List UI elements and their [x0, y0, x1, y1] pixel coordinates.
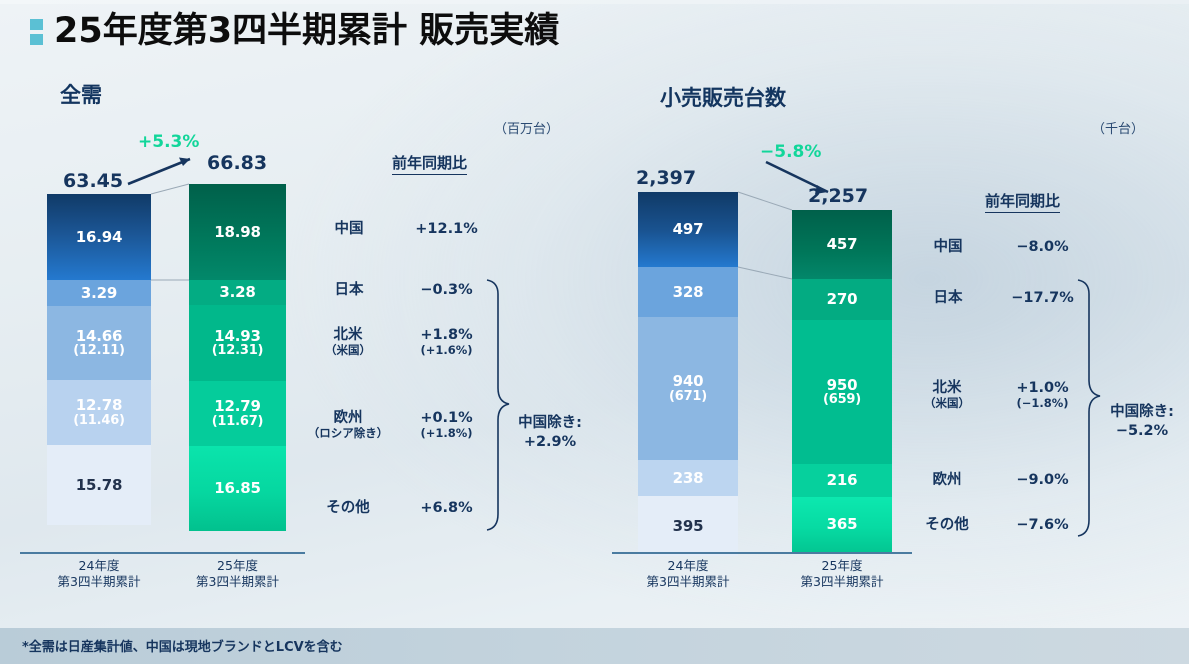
- right-curr-segment-0[interactable]: 457: [792, 210, 892, 279]
- right-axis-tick-1-line1: 25年度: [784, 558, 900, 574]
- bar-24fy-retail-sales[interactable]: 497328940(671)238395: [638, 192, 738, 556]
- left-row-name-1-main: 日本: [335, 282, 364, 298]
- right-prev-segment-1-value: 328: [673, 284, 704, 300]
- left-prev-segment-4-value: 15.78: [76, 477, 122, 493]
- right-yoy-header: 前年同期比: [985, 190, 1060, 213]
- left-row-name-3-sub: （ロシア除き）: [286, 427, 410, 441]
- left-axis-tick-1-line1: 25年度: [180, 558, 295, 574]
- left-curr-segment-1-value: 3.28: [219, 284, 255, 300]
- left-row-yoy-3: +0.1% (+1.8%): [394, 410, 499, 441]
- left-row-name-0: 中国: [304, 221, 394, 238]
- left-row-yoy-0: +12.1%: [394, 221, 499, 238]
- right-row-name-0: 中国: [903, 239, 993, 256]
- left-curr-segment-2[interactable]: 14.93(12.31): [189, 305, 286, 381]
- right-axis-tick-1-line2: 第3四半期累計: [784, 574, 900, 590]
- footnote: *全需は日産集計値、中国は現地ブランドとLCVを含む: [22, 636, 343, 655]
- right-excl-note-line2: −5.2%: [1087, 422, 1189, 441]
- right-curr-segment-4-value: 365: [827, 516, 858, 532]
- left-prev-total: 63.45: [63, 170, 123, 192]
- left-axis-tick-1-line2: 第3四半期累計: [180, 574, 295, 590]
- left-axis-tick-0-line1: 24年度: [47, 558, 151, 574]
- right-row-name-3: 欧州: [899, 472, 995, 489]
- right-axis-tick-1: 25年度 第3四半期累計: [784, 558, 900, 589]
- right-prev-segment-0-value: 497: [673, 221, 704, 237]
- left-row-yoy-1-main: −0.3%: [420, 282, 472, 298]
- left-row-yoy-2-main: +1.8%: [420, 327, 472, 343]
- right-prev-segment-2[interactable]: 940(671): [638, 317, 738, 460]
- right-curr-segment-3[interactable]: 216: [792, 464, 892, 497]
- left-prev-segment-2[interactable]: 14.66(12.11): [47, 306, 151, 380]
- right-row-yoy-1-main: −17.7%: [1011, 290, 1073, 306]
- right-prev-segment-4[interactable]: 395: [638, 496, 738, 556]
- chart-panel-retail-sales: 小売販売台数 （千台） 2,397 2,257 −5.8% 497328940(…: [600, 0, 1189, 664]
- left-prev-segment-3-value: 12.78: [76, 397, 122, 413]
- right-row-yoy-0-main: −8.0%: [1016, 239, 1068, 255]
- bar-25fy-total-demand[interactable]: 18.983.2814.93(12.31)12.79(11.67)16.85: [189, 184, 286, 531]
- left-axis-tick-0-line2: 第3四半期累計: [47, 574, 151, 590]
- right-prev-segment-2-subvalue: (671): [669, 390, 707, 404]
- right-growth-label: −5.8%: [760, 142, 821, 162]
- right-curr-segment-2[interactable]: 950(659): [792, 320, 892, 464]
- left-row-name-0-main: 中国: [335, 221, 364, 237]
- left-row-yoy-3-sub: (+1.8%): [394, 427, 499, 441]
- right-row-yoy-3: −9.0%: [990, 472, 1095, 489]
- right-curr-segment-4[interactable]: 365: [792, 497, 892, 552]
- right-row-yoy-4-main: −7.6%: [1016, 517, 1068, 533]
- left-curr-total: 66.83: [207, 152, 267, 174]
- left-excluding-china-note: 中国除き: +2.9%: [495, 414, 605, 452]
- right-row-name-4-main: その他: [925, 517, 969, 533]
- left-excl-note-line1: 中国除き:: [495, 414, 605, 433]
- right-row-yoy-2: +1.0% (−1.8%): [990, 380, 1095, 411]
- left-row-name-3: 欧州 （ロシア除き）: [286, 410, 410, 441]
- right-row-name-1-main: 日本: [934, 290, 963, 306]
- right-prev-segment-2-value: 940: [673, 373, 704, 389]
- right-curr-segment-1[interactable]: 270: [792, 279, 892, 320]
- left-growth-label: +5.3%: [138, 132, 199, 152]
- right-prev-total: 2,397: [636, 167, 696, 189]
- left-row-yoy-2: +1.8% (+1.6%): [394, 327, 499, 358]
- right-row-name-1: 日本: [903, 290, 993, 307]
- left-row-name-2-sub: （米国）: [300, 344, 396, 358]
- right-prev-segment-4-value: 395: [673, 518, 704, 534]
- left-row-name-3-main: 欧州: [334, 410, 363, 426]
- left-prev-segment-2-value: 14.66: [76, 328, 122, 344]
- left-curr-segment-3-value: 12.79: [214, 398, 260, 414]
- left-panel-title: 全需: [60, 79, 102, 109]
- right-prev-segment-3-value: 238: [673, 470, 704, 486]
- right-row-name-3-main: 欧州: [933, 472, 962, 488]
- right-row-yoy-2-sub: (−1.8%): [990, 397, 1095, 411]
- left-curr-segment-1[interactable]: 3.28: [189, 280, 286, 305]
- left-yoy-header: 前年同期比: [392, 152, 467, 175]
- left-prev-segment-0[interactable]: 16.94: [47, 194, 151, 280]
- left-row-name-2: 北米 （米国）: [300, 327, 396, 358]
- left-row-yoy-0-main: +12.1%: [415, 221, 477, 237]
- left-prev-segment-4[interactable]: 15.78: [47, 445, 151, 525]
- left-prev-segment-3-subvalue: (11.46): [73, 414, 125, 428]
- right-excluding-china-note: 中国除き: −5.2%: [1087, 403, 1189, 441]
- right-excl-note-line1: 中国除き:: [1087, 403, 1189, 422]
- left-prev-segment-1-value: 3.29: [81, 285, 117, 301]
- right-prev-segment-1[interactable]: 328: [638, 267, 738, 317]
- left-row-yoy-3-main: +0.1%: [420, 410, 472, 426]
- left-curr-segment-2-value: 14.93: [214, 328, 260, 344]
- right-unit-label: （千台）: [1092, 118, 1144, 137]
- left-curr-segment-0-value: 18.98: [214, 224, 260, 240]
- right-curr-segment-0-value: 457: [827, 236, 858, 252]
- left-row-name-4: その他: [300, 500, 396, 517]
- left-prev-segment-3[interactable]: 12.78(11.46): [47, 380, 151, 445]
- right-axis-tick-0-line2: 第3四半期累計: [630, 574, 746, 590]
- right-curr-segment-1-value: 270: [827, 291, 858, 307]
- left-curr-segment-0[interactable]: 18.98: [189, 184, 286, 280]
- right-axis-line: [612, 552, 912, 554]
- right-curr-segment-3-value: 216: [827, 472, 858, 488]
- right-curr-segment-2-subvalue: (659): [823, 393, 861, 407]
- left-axis-line: [20, 552, 305, 554]
- left-row-yoy-1: −0.3%: [394, 282, 499, 299]
- bar-24fy-total-demand[interactable]: 16.943.2914.66(12.11)12.78(11.46)15.78: [47, 194, 151, 525]
- left-axis-tick-1: 25年度 第3四半期累計: [180, 558, 295, 589]
- left-row-yoy-4: +6.8%: [394, 500, 499, 517]
- left-prev-segment-0-value: 16.94: [76, 229, 122, 245]
- right-row-yoy-1: −17.7%: [990, 290, 1095, 307]
- left-unit-label: （百万台）: [494, 118, 559, 137]
- right-prev-segment-0[interactable]: 497: [638, 192, 738, 267]
- right-row-name-2-main: 北米: [933, 380, 962, 396]
- bar-25fy-retail-sales[interactable]: 457270950(659)216365: [792, 210, 892, 552]
- right-axis-tick-0-line1: 24年度: [630, 558, 746, 574]
- right-row-yoy-2-main: +1.0%: [1016, 380, 1068, 396]
- left-axis-tick-0: 24年度 第3四半期累計: [47, 558, 151, 589]
- right-row-name-0-main: 中国: [934, 239, 963, 255]
- left-row-yoy-4-main: +6.8%: [420, 500, 472, 516]
- right-curr-segment-2-value: 950: [827, 377, 858, 393]
- left-prev-segment-1[interactable]: 3.29: [47, 280, 151, 306]
- right-panel-title: 小売販売台数: [660, 82, 786, 112]
- left-prev-segment-2-subvalue: (12.11): [73, 344, 125, 358]
- slide-root: 25年度第3四半期累計 販売実績 全需 （百万台） 63.45 66.83 +5…: [0, 0, 1189, 664]
- left-curr-segment-2-subvalue: (12.31): [212, 344, 264, 358]
- right-row-name-4: その他: [896, 517, 998, 534]
- left-row-name-4-main: その他: [326, 500, 370, 516]
- right-curr-total: 2,257: [808, 185, 868, 207]
- chart-panel-total-demand: 全需 （百万台） 63.45 66.83 +5.3% 16.943.2914.6…: [0, 0, 600, 664]
- right-row-yoy-4: −7.6%: [990, 517, 1095, 534]
- right-row-yoy-0: −8.0%: [990, 239, 1095, 256]
- right-row-name-2: 北米 （米国）: [899, 380, 995, 411]
- left-row-name-2-main: 北米: [334, 327, 363, 343]
- right-prev-segment-3[interactable]: 238: [638, 460, 738, 496]
- right-row-name-2-sub: （米国）: [899, 397, 995, 411]
- left-row-yoy-2-sub: (+1.6%): [394, 344, 499, 358]
- left-curr-segment-4-value: 16.85: [214, 480, 260, 496]
- left-curr-segment-3-subvalue: (11.67): [212, 415, 264, 429]
- right-axis-tick-0: 24年度 第3四半期累計: [630, 558, 746, 589]
- right-row-yoy-3-main: −9.0%: [1016, 472, 1068, 488]
- left-row-name-1: 日本: [304, 282, 394, 299]
- left-excl-note-line2: +2.9%: [495, 433, 605, 452]
- left-curr-segment-4[interactable]: 16.85: [189, 446, 286, 531]
- left-curr-segment-3[interactable]: 12.79(11.67): [189, 381, 286, 446]
